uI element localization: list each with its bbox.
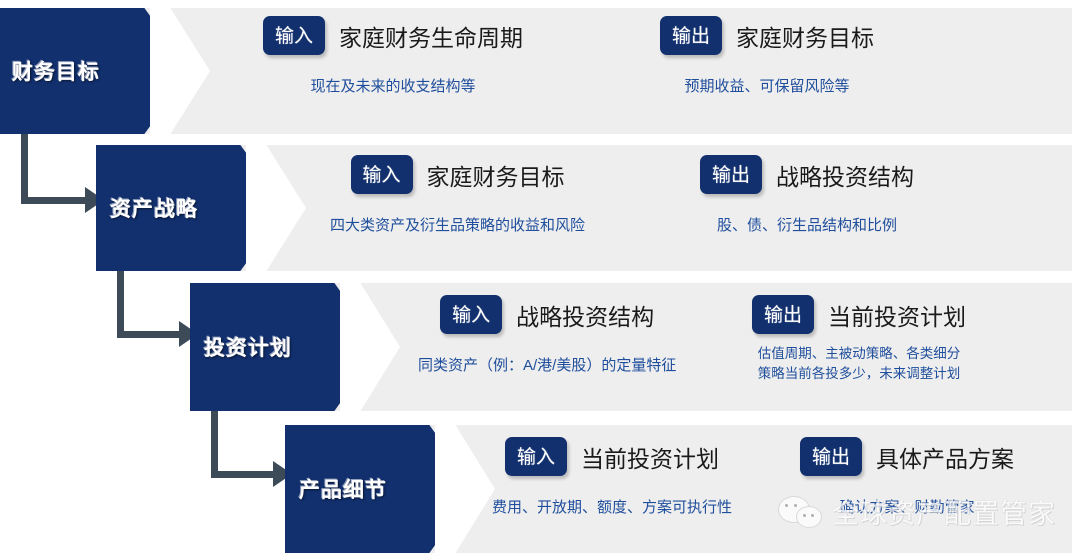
connector-vertical-3 [211,411,218,477]
output-title: 战略投资结构 [776,158,914,192]
input-title: 家庭财务生命周期 [339,19,523,53]
output-subtext: 股、债、衍生品结构和比例 [717,214,897,235]
output-badge[interactable]: 输出 [660,16,722,55]
io-header-row: 输出 当前投资计划 [752,295,966,334]
io-input-3: 输入 战略投资结构 同类资产（例：A/港/美股）的定量特征 [418,295,676,375]
io-output-2: 输出 战略投资结构 股、债、衍生品结构和比例 [700,155,914,235]
connector-horizontal-1 [21,197,85,204]
input-badge[interactable]: 输入 [440,295,502,334]
input-badge[interactable]: 输入 [351,155,413,194]
output-badge[interactable]: 输出 [752,295,814,334]
input-title: 战略投资结构 [516,298,654,332]
io-input-1: 输入 家庭财务生命周期 现在及未来的收支结构等 [263,16,523,96]
io-output-1: 输出 家庭财务目标 预期收益、可保留风险等 [660,16,874,96]
input-title: 家庭财务目标 [427,158,565,192]
connector-vertical-1 [21,134,28,204]
connector-horizontal-3 [211,471,273,478]
input-badge[interactable]: 输入 [263,16,325,55]
output-title: 具体产品方案 [876,440,1014,474]
io-header-row: 输出 战略投资结构 [700,155,914,194]
io-output-4: 输出 具体产品方案 确认方案、财勤管家 [800,437,1014,517]
input-subtext: 费用、开放期、额度、方案可执行性 [492,496,732,517]
input-title: 当前投资计划 [581,440,719,474]
input-badge[interactable]: 输入 [505,437,567,476]
stage-label: 投资计划 [204,332,292,362]
io-header-row: 输入 战略投资结构 [440,295,654,334]
io-header-row: 输入 当前投资计划 [505,437,719,476]
output-badge[interactable]: 输出 [700,155,762,194]
input-subtext: 同类资产（例：A/港/美股）的定量特征 [418,354,676,375]
connector-horizontal-2 [117,331,179,338]
output-subtext-line1: 估值周期、主被动策略、各类细分 [758,344,961,364]
output-subtext: 预期收益、可保留风险等 [685,75,850,96]
output-badge[interactable]: 输出 [800,437,862,476]
stage-label: 产品细节 [299,474,387,504]
io-header-row: 输入 家庭财务生命周期 [263,16,523,55]
connector-vertical-2 [117,271,124,337]
io-input-4: 输入 当前投资计划 费用、开放期、额度、方案可执行性 [492,437,732,517]
output-title: 家庭财务目标 [736,19,874,53]
output-subtext-line2: 策略当前各投多少，未来调整计划 [758,364,961,384]
flow-diagram: 财务目标 输入 家庭财务生命周期 现在及未来的收支结构等 输出 家庭财务目标 预… [0,0,1080,560]
io-header-row: 输入 家庭财务目标 [351,155,565,194]
io-input-2: 输入 家庭财务目标 四大类资产及衍生品策略的收益和风险 [330,155,585,235]
input-subtext: 四大类资产及衍生品策略的收益和风险 [330,214,585,235]
io-header-row: 输出 家庭财务目标 [660,16,874,55]
io-header-row: 输出 具体产品方案 [800,437,1014,476]
stage-label: 财务目标 [12,56,100,86]
stage-label: 资产战略 [110,193,198,223]
output-title: 当前投资计划 [828,298,966,332]
input-subtext: 现在及未来的收支结构等 [311,75,476,96]
output-subtext: 确认方案、财勤管家 [840,496,975,517]
io-output-3: 输出 当前投资计划 估值周期、主被动策略、各类细分 策略当前各投多少，未来调整计… [752,295,966,383]
